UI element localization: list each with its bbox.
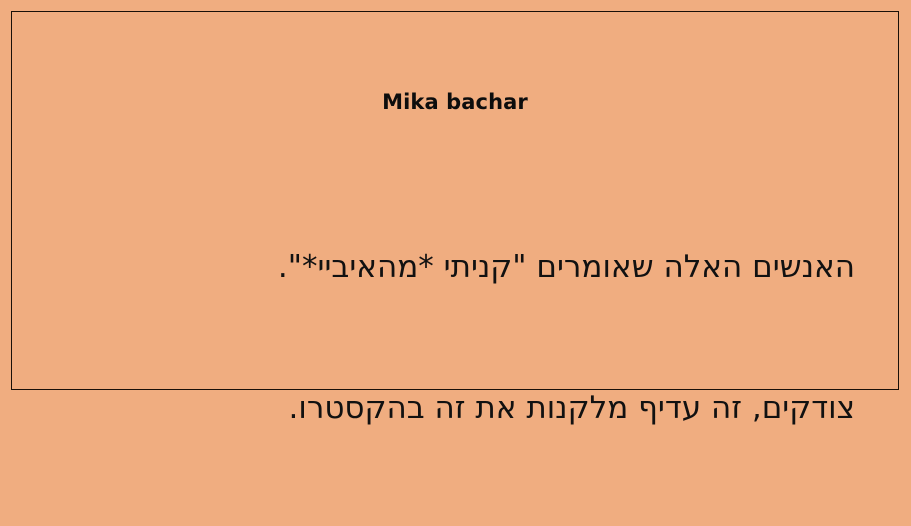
post-author-name: Mika bachar — [12, 90, 898, 115]
post-body: האנשים האלה שאומרים "קניתי *מהאיביי*". צ… — [55, 150, 855, 526]
post-body-line: צודקים, זה עדיף מלקנות את זה בהקסטרו. — [55, 385, 855, 432]
post-body-line: האנשים האלה שאומרים "קניתי *מהאיביי*". — [55, 244, 855, 291]
post-card: Mika bachar האנשים האלה שאומרים "קניתי *… — [11, 11, 899, 390]
